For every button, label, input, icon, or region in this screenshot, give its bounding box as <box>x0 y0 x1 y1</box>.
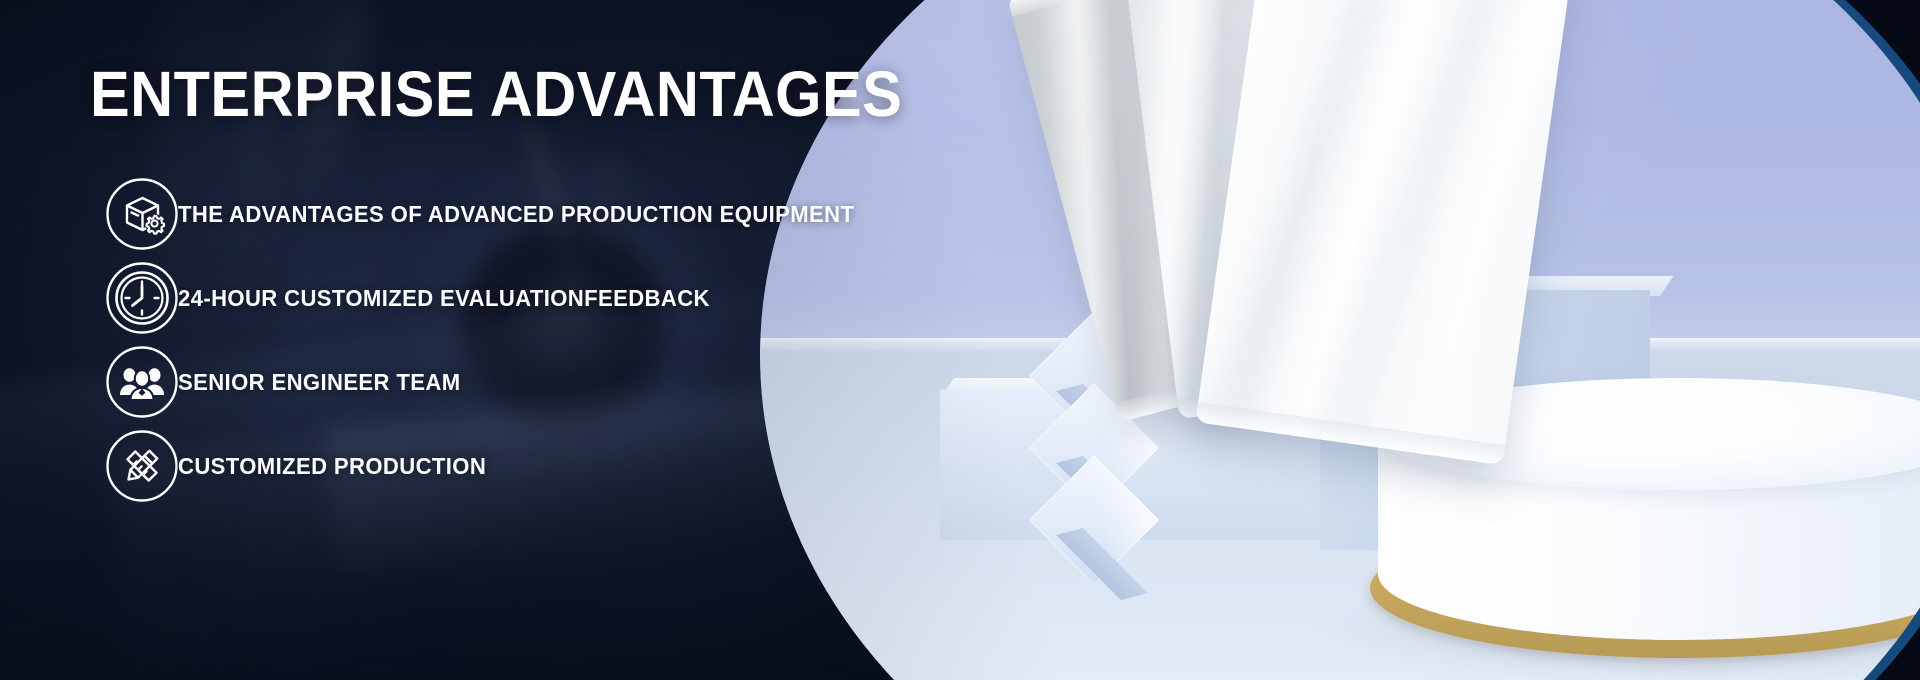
feature-label: THE ADVANTAGES OF ADVANCED PRODUCTION EQ… <box>178 201 854 228</box>
feature-label: 24-HOUR CUSTOMIZED EVALUATIONFEEDBACK <box>178 285 710 312</box>
page-title: ENTERPRISE ADVANTAGES <box>90 62 902 126</box>
feature-item-engineer-team[interactable]: SENIOR ENGINEER TEAM <box>0 340 900 424</box>
people-group-icon <box>105 345 179 419</box>
enterprise-advantages-banner: ENTERPRISE ADVANTAGES THE A <box>0 0 1920 680</box>
feature-item-production-equipment[interactable]: THE ADVANTAGES OF ADVANCED PRODUCTION EQ… <box>0 172 900 256</box>
feature-label: CUSTOMIZED PRODUCTION <box>178 453 486 480</box>
product-scene-ellipse <box>760 0 1920 680</box>
feature-item-customized-production[interactable]: CUSTOMIZED PRODUCTION <box>0 424 900 508</box>
clock-icon <box>105 261 179 335</box>
feature-label: SENIOR ENGINEER TEAM <box>178 369 460 396</box>
banner-content: ENTERPRISE ADVANTAGES THE A <box>0 0 900 680</box>
feature-item-24-hour-feedback[interactable]: 24-HOUR CUSTOMIZED EVALUATIONFEEDBACK <box>0 256 900 340</box>
product-scene <box>760 0 1920 680</box>
pen-ruler-icon <box>105 429 179 503</box>
box-gear-icon <box>105 177 179 251</box>
feature-list: THE ADVANTAGES OF ADVANCED PRODUCTION EQ… <box>0 172 900 508</box>
